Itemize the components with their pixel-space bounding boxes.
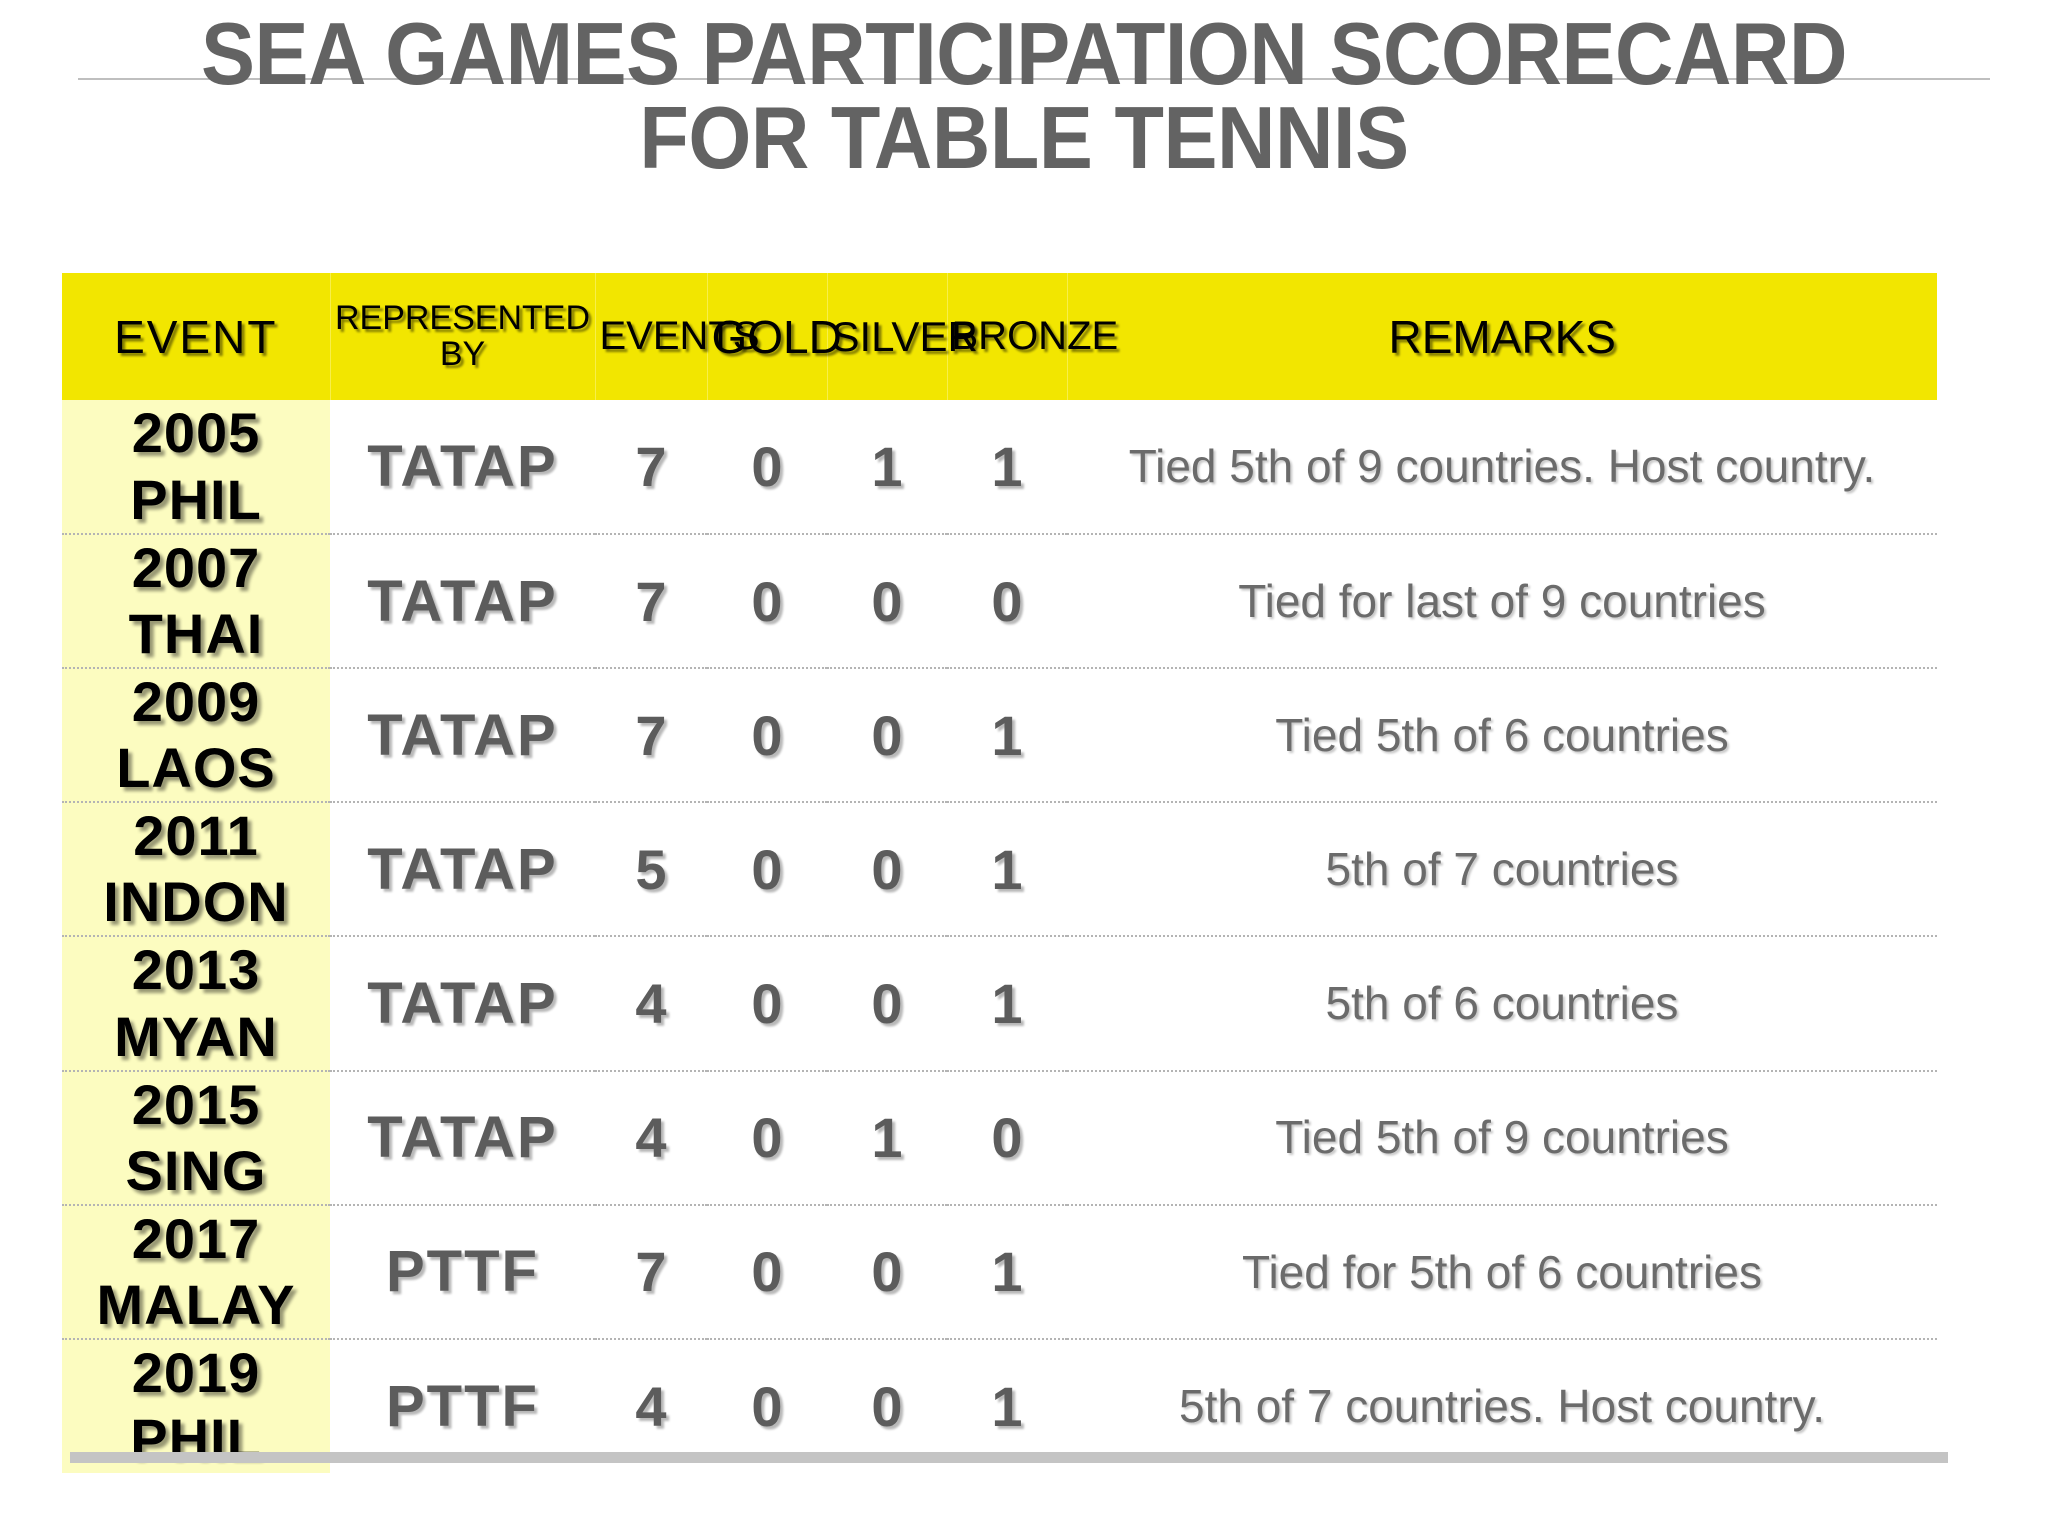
cell-events: 7 [595,1205,707,1339]
cell-represented-by: TATAP [330,534,595,668]
cell-remarks: Tied 5th of 6 countries [1067,668,1937,802]
cell-gold: 0 [707,802,827,936]
cell-silver: 0 [827,802,947,936]
table-row[interactable]: 2009 LAOS TATAP 7 0 0 1 Tied 5th of 6 co… [62,668,1937,802]
table-bottom-bar [70,1452,1948,1463]
cell-silver: 0 [827,1205,947,1339]
cell-event: 2005 PHIL [62,400,330,534]
cell-bronze: 1 [947,400,1067,534]
table-row[interactable]: 2011 INDON TATAP 5 0 0 1 5th of 7 countr… [62,802,1937,936]
scorecard-table: EVENT REPRESENTED BY EVENTS GOLD SILVER … [62,273,1937,1473]
cell-represented-by: TATAP [330,1071,595,1205]
cell-remarks: 5th of 7 countries [1067,802,1937,936]
cell-represented-by: PTTF [330,1205,595,1339]
table-body: 2005 PHIL TATAP 7 0 1 1 Tied 5th of 9 co… [62,400,1937,1473]
cell-event: 2017 MALAY [62,1205,330,1339]
cell-events: 4 [595,1071,707,1205]
cell-bronze: 0 [947,1071,1067,1205]
table-row[interactable]: 2017 MALAY PTTF 7 0 0 1 Tied for 5th of … [62,1205,1937,1339]
cell-bronze: 1 [947,1205,1067,1339]
cell-silver: 0 [827,668,947,802]
cell-remarks: 5th of 6 countries [1067,936,1937,1070]
table-row[interactable]: 2005 PHIL TATAP 7 0 1 1 Tied 5th of 9 co… [62,400,1937,534]
cell-bronze: 1 [947,936,1067,1070]
cell-gold: 0 [707,534,827,668]
column-header-represented-by[interactable]: REPRESENTED BY [330,273,595,400]
cell-represented-by: TATAP [330,400,595,534]
table-row[interactable]: 2007 THAI TATAP 7 0 0 0 Tied for last of… [62,534,1937,668]
cell-gold: 0 [707,1205,827,1339]
column-header-events[interactable]: EVENTS [595,273,707,400]
cell-silver: 1 [827,1071,947,1205]
cell-events: 4 [595,936,707,1070]
slide-title-area: SEA GAMES PARTICIPATION SCORECARD FOR TA… [0,0,2048,255]
cell-event: 2015 SING [62,1071,330,1205]
cell-event: 2011 INDON [62,802,330,936]
cell-silver: 0 [827,534,947,668]
cell-bronze: 1 [947,802,1067,936]
cell-remarks: Tied for 5th of 6 countries [1067,1205,1937,1339]
cell-silver: 0 [827,936,947,1070]
cell-represented-by: TATAP [330,668,595,802]
cell-events: 5 [595,802,707,936]
cell-event: 2009 LAOS [62,668,330,802]
cell-event: 2007 THAI [62,534,330,668]
column-header-event[interactable]: EVENT [62,273,330,400]
column-header-bronze[interactable]: BRONZE [947,273,1067,400]
cell-events: 7 [595,534,707,668]
cell-remarks: Tied for last of 9 countries [1067,534,1937,668]
cell-event: 2013 MYAN [62,936,330,1070]
cell-events: 7 [595,668,707,802]
column-header-silver[interactable]: SILVER [827,273,947,400]
table-row[interactable]: 2015 SING TATAP 4 0 1 0 Tied 5th of 9 co… [62,1071,1937,1205]
cell-gold: 0 [707,668,827,802]
cell-represented-by: TATAP [330,802,595,936]
table-header-row: EVENT REPRESENTED BY EVENTS GOLD SILVER … [62,273,1937,400]
cell-silver: 1 [827,400,947,534]
scorecard-table-container: EVENT REPRESENTED BY EVENTS GOLD SILVER … [62,273,1937,1473]
table-row[interactable]: 2013 MYAN TATAP 4 0 0 1 5th of 6 countri… [62,936,1937,1070]
cell-remarks: Tied 5th of 9 countries. Host country. [1067,400,1937,534]
cell-remarks: Tied 5th of 9 countries [1067,1071,1937,1205]
page-title: SEA GAMES PARTICIPATION SCORECARD FOR TA… [82,12,1966,181]
cell-gold: 0 [707,936,827,1070]
cell-bronze: 1 [947,668,1067,802]
cell-gold: 0 [707,1071,827,1205]
cell-events: 7 [595,400,707,534]
cell-bronze: 0 [947,534,1067,668]
cell-gold: 0 [707,400,827,534]
column-header-remarks[interactable]: REMARKS [1067,273,1937,400]
column-header-gold[interactable]: GOLD [707,273,827,400]
cell-represented-by: TATAP [330,936,595,1070]
